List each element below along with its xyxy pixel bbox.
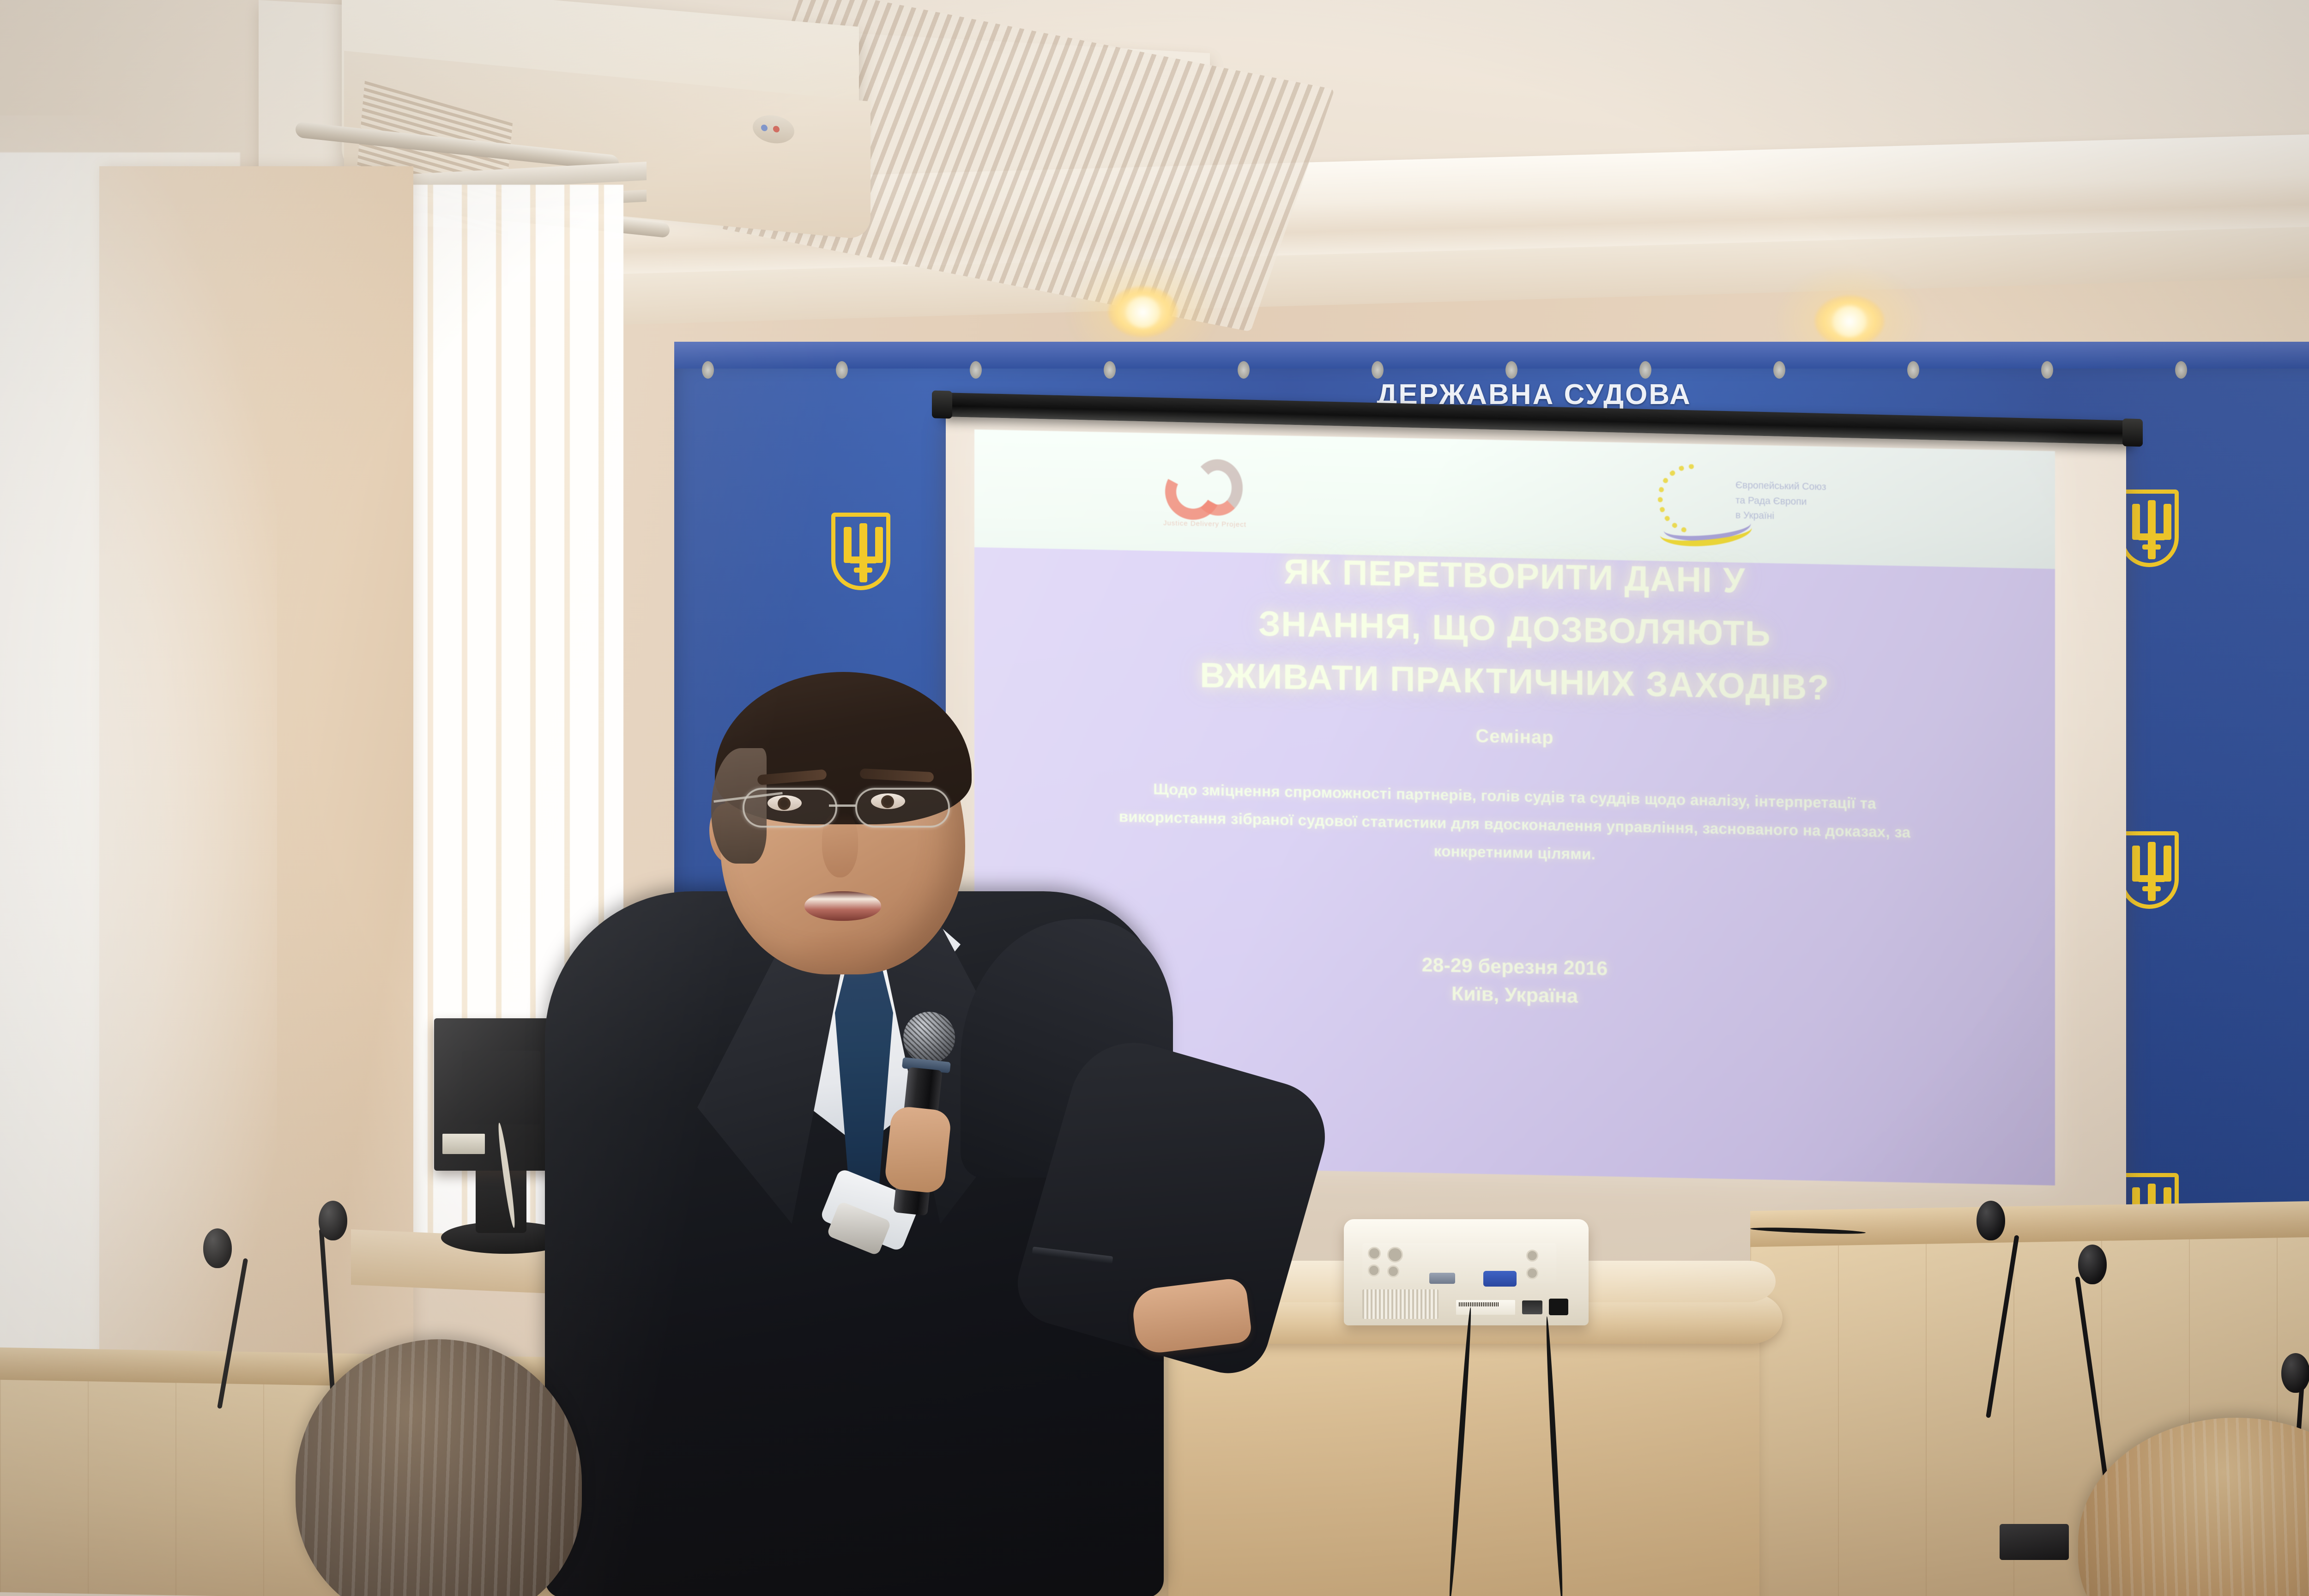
roller-end-cap-right: [2122, 418, 2143, 447]
monitor-rear-hump: [462, 1051, 540, 1124]
banner-grommet: [1372, 361, 1384, 379]
jd-logo-caption: Justice Delivery Project: [1163, 519, 1283, 529]
banner-grommet: [836, 361, 848, 379]
slide-paragraph: Щодо зміцнення спроможності партнерів, г…: [1099, 774, 1930, 875]
trident-prong: [2142, 886, 2161, 891]
banner-grommet: [702, 361, 714, 379]
conference-photograph: ДЕРЖАВНА СУДОВААДМІНІСТРАЦІЯ УКРАЇНИДЕРЖ…: [0, 0, 2309, 1596]
downlight-bulb: [1126, 296, 1160, 328]
ukraine-trident-coat-of-arms: [2120, 490, 2179, 567]
banner-grommet: [1505, 361, 1517, 379]
banner-grommet: [1907, 361, 1919, 379]
projector-exhaust-grille: [1362, 1289, 1439, 1319]
banner-grommet: [1639, 361, 1651, 379]
projector-power-socket: [1549, 1299, 1568, 1315]
projector-barcode-label: [1456, 1300, 1515, 1315]
microphone-capsule: [1977, 1201, 2005, 1240]
banner-grommet: [970, 361, 982, 379]
microphone-capsule: [2281, 1353, 2309, 1393]
recessed-ceiling-downlight: [1815, 296, 1884, 346]
projector-vga-out: [1429, 1273, 1455, 1284]
trident-prong: [2142, 544, 2161, 550]
ukraine-trident-coat-of-arms: [2120, 831, 2179, 909]
microphone-capsule: [203, 1228, 232, 1268]
banner-grommet: [1104, 361, 1116, 379]
downlight-bulb: [1832, 306, 1867, 337]
eu-logo-line-3: в Україні: [1735, 508, 1826, 525]
rimless-glasses-lens-left: [743, 788, 837, 828]
rimless-glasses-bridge: [829, 804, 856, 807]
projector-port-usb: [1526, 1267, 1538, 1279]
projector-port-svideo: [1387, 1247, 1403, 1263]
slide-title: ЯК ПЕРЕТВОРИТИ ДАНІ У ЗНАННЯ, ЩО ДОЗВОЛЯ…: [1011, 540, 2018, 719]
projector-port-aux: [1526, 1250, 1538, 1262]
speaker-mouth: [804, 891, 881, 921]
rimless-glasses-lens-right: [855, 788, 950, 828]
monitor-spec-label: [442, 1134, 485, 1154]
roller-end-cap-left: [932, 390, 952, 418]
banner-top-edge: [674, 342, 2309, 369]
banner-grommet: [1773, 361, 1785, 379]
eu-logo-line-1: Європейський Союз: [1735, 478, 1826, 495]
microphone-capsule: [319, 1201, 347, 1240]
eu-council-europe-logo: Європейський Союз та Рада Європи в Украї…: [1658, 461, 1875, 548]
microphone-desk-base: [2000, 1524, 2069, 1560]
jd-partner-logo: Justice Delivery Project: [1157, 455, 1263, 532]
jd-logo-arc-right: [1193, 459, 1243, 516]
projector-power-switch[interactable]: [1522, 1300, 1542, 1314]
eu-logo-line-2: та Рада Європи: [1735, 493, 1826, 510]
eu-logo-text: Європейський Союз та Рада Європи в Украї…: [1735, 478, 1826, 525]
projector-port-video: [1368, 1247, 1381, 1260]
recessed-ceiling-downlight: [1108, 286, 1178, 337]
speaker-hand-holding-mic: [884, 1105, 952, 1194]
projector-port-audio-l: [1368, 1264, 1380, 1276]
projector-vga-in: [1483, 1271, 1517, 1287]
ukraine-trident-coat-of-arms: [831, 513, 890, 590]
monitor-stand-neck: [476, 1164, 526, 1233]
projector-port-audio-r: [1387, 1265, 1399, 1277]
trident-prong: [854, 568, 872, 573]
banner-grommet: [2041, 361, 2053, 379]
microphone-capsule: [2078, 1245, 2107, 1284]
ceiling-white-projector: [1344, 1219, 1589, 1325]
window-glow: [0, 115, 277, 1547]
speaker-chin-shading: [785, 928, 901, 979]
speaker-nose: [822, 813, 858, 877]
banner-grommet: [2175, 361, 2187, 379]
banner-grommet: [1238, 361, 1250, 379]
projector-port-panel: [1362, 1243, 1556, 1283]
